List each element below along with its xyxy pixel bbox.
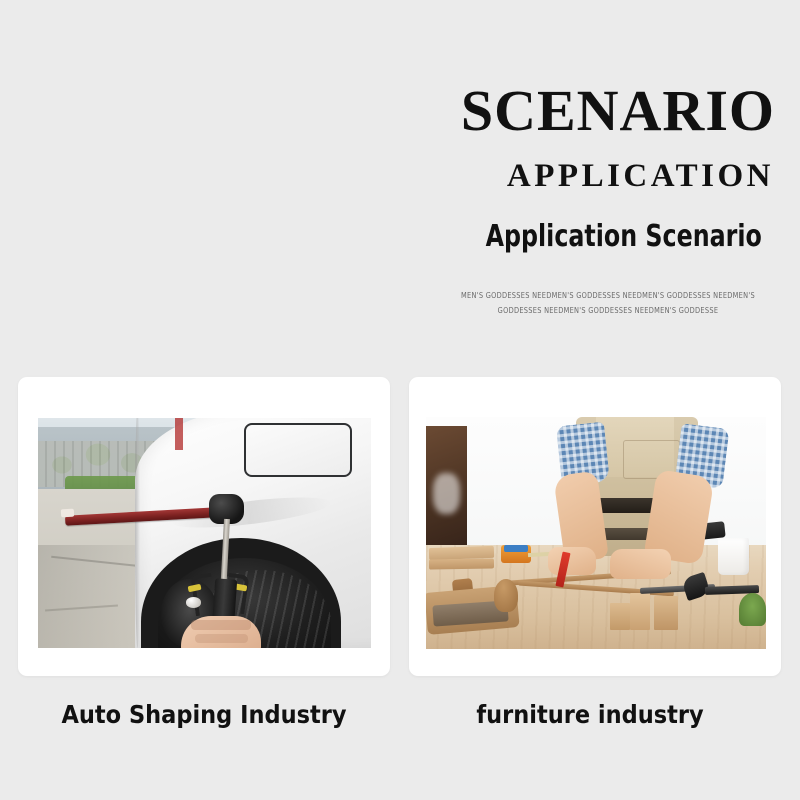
- tape-measure-top: [504, 545, 528, 552]
- tool-handle-cap: [61, 508, 75, 517]
- page-title-translated: Application Scenario: [486, 220, 762, 254]
- page-title: SCENARIO: [461, 82, 775, 140]
- paper-cup: [718, 538, 749, 575]
- hand-right: [610, 549, 671, 579]
- caption-auto-shaping: Auto Shaping Industry: [4, 700, 404, 730]
- header-block: SCENARIO APPLICATION Application Scenari…: [0, 0, 800, 340]
- finger-crease-2: [195, 634, 248, 643]
- card-furniture[interactable]: [409, 377, 781, 676]
- wood-block-3: [654, 596, 678, 631]
- wood-block-2: [630, 593, 650, 630]
- car-fuel-cap: [244, 423, 351, 478]
- hand-left: [548, 547, 596, 575]
- wood-plank-2: [429, 558, 494, 570]
- photo-auto-shaping: [38, 418, 371, 648]
- caption-furniture: furniture industry: [390, 700, 790, 730]
- wood-plank-1: [429, 546, 494, 560]
- wood-panel-highlight: [433, 473, 460, 515]
- page-subtitle: APPLICATION: [507, 158, 774, 194]
- card-row: [0, 377, 800, 677]
- round-wood-handle: [494, 579, 518, 611]
- card-auto-shaping[interactable]: [18, 377, 390, 676]
- photo-furniture: [426, 417, 766, 649]
- scene-car-dent-puller: [38, 418, 371, 648]
- fine-print-line-1: MEN'S GODDESSES NEEDMEN'S GODDESSES NEED…: [452, 288, 765, 303]
- car-body-edge: [135, 418, 140, 648]
- scene-carpenter: [426, 417, 766, 649]
- tool-knob: [186, 597, 201, 607]
- plant: [739, 593, 766, 625]
- finger-crease-1: [191, 620, 251, 629]
- fine-print-line-2: GODDESSES NEEDMEN'S GODDESSES NEEDMEN'S …: [452, 303, 765, 318]
- wood-block-1: [610, 603, 630, 631]
- header-fine-print: MEN'S GODDESSES NEEDMEN'S GODDESSES NEED…: [452, 288, 765, 318]
- car-taillight: [175, 418, 183, 450]
